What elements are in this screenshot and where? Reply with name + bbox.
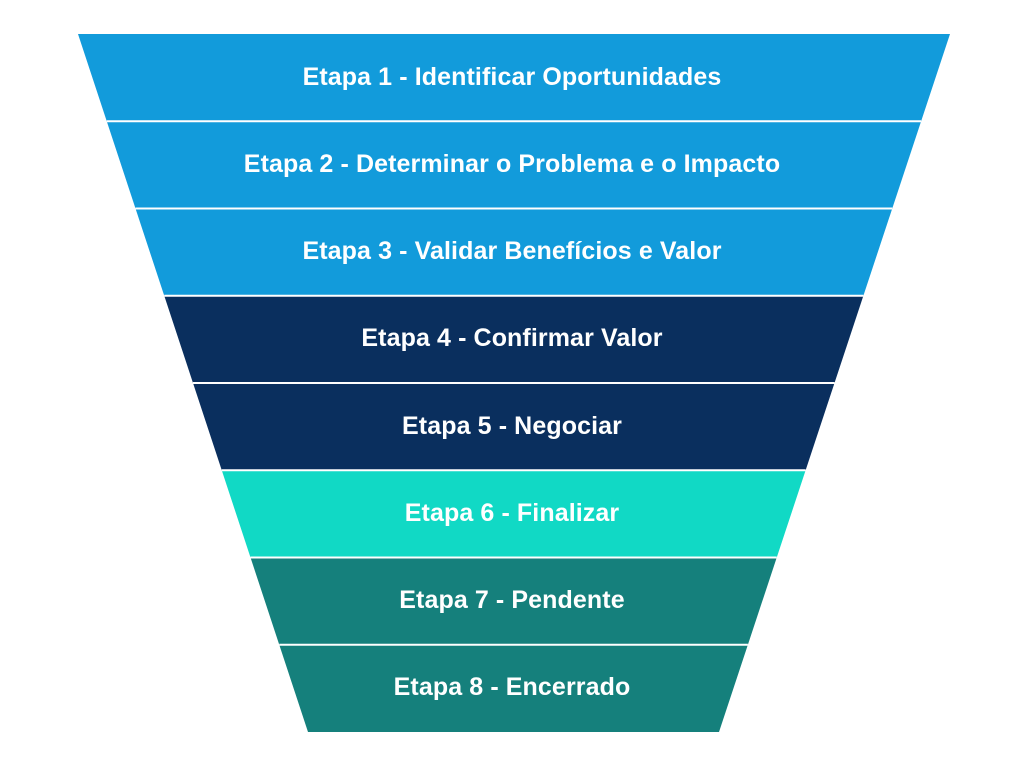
funnel-shape-layer (0, 0, 1024, 768)
funnel-segment-7[interactable] (251, 558, 777, 645)
funnel-segment-6[interactable] (222, 470, 806, 557)
funnel-segment-8[interactable] (279, 645, 748, 732)
funnel-segment-2[interactable] (107, 121, 921, 208)
funnel-diagram: Etapa 1 - Identificar OportunidadesEtapa… (0, 0, 1024, 768)
funnel-segment-1[interactable] (78, 34, 950, 121)
funnel-segment-5[interactable] (193, 383, 835, 470)
funnel-segment-4[interactable] (164, 296, 863, 383)
funnel-segment-3[interactable] (136, 209, 893, 296)
